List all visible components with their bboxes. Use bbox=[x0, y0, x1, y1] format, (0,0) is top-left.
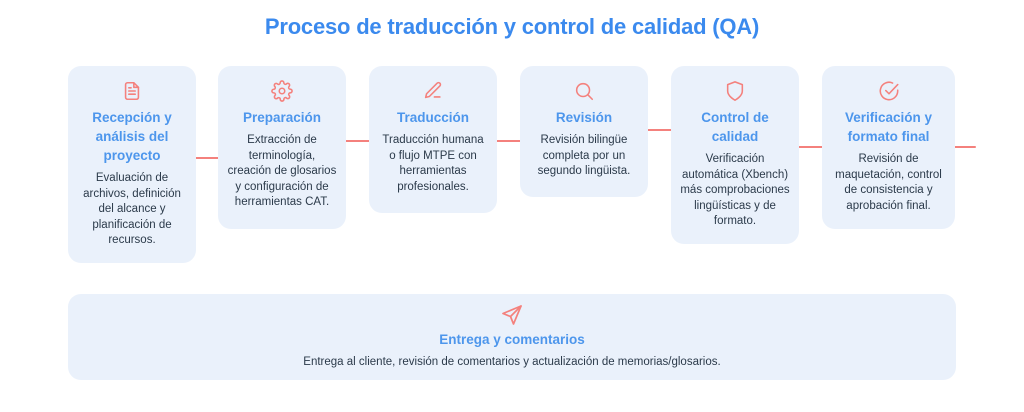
step-card-description: Revisión bilingüe completa por un segund… bbox=[529, 133, 639, 180]
document-icon bbox=[121, 80, 143, 102]
step-card-title: Traducción bbox=[378, 108, 488, 127]
send-icon bbox=[500, 303, 524, 327]
step-card-2[interactable]: Preparación Extracción de terminología, … bbox=[218, 66, 346, 229]
pencil-icon bbox=[422, 80, 444, 102]
step-card-6[interactable]: Verificación y formato final Revisión de… bbox=[822, 66, 955, 229]
process-diagram: Recepción y análisis del proyecto Evalua… bbox=[0, 0, 1024, 412]
step-card-description: Revisión de maquetación, control de cons… bbox=[831, 152, 946, 214]
step-card-3[interactable]: Traducción Traducción humana o flujo MTP… bbox=[369, 66, 497, 213]
final-step-description: Entrega al cliente, revisión de comentar… bbox=[68, 354, 956, 370]
gear-icon bbox=[271, 80, 293, 102]
step-card-title: Verificación y formato final bbox=[831, 108, 946, 146]
final-step-title: Entrega y comentarios bbox=[68, 330, 956, 350]
step-card-title: Recepción y análisis del proyecto bbox=[77, 108, 187, 165]
step-card-description: Verificación automática (Xbench) más com… bbox=[680, 152, 790, 230]
check-circle-icon bbox=[878, 80, 900, 102]
step-card-5[interactable]: Control de calidad Verificación automáti… bbox=[671, 66, 799, 244]
step-card-title: Revisión bbox=[529, 108, 639, 127]
step-card-description: Evaluación de archivos, definición del a… bbox=[77, 171, 187, 249]
step-card-1[interactable]: Recepción y análisis del proyecto Evalua… bbox=[68, 66, 196, 263]
step-card-description: Extracción de terminología, creación de … bbox=[227, 133, 337, 211]
step-card-title: Preparación bbox=[227, 108, 337, 127]
step-card-description: Traducción humana o flujo MTPE con herra… bbox=[378, 133, 488, 195]
final-step-panel[interactable]: Entrega y comentarios Entrega al cliente… bbox=[68, 294, 956, 380]
step-card-title: Control de calidad bbox=[680, 108, 790, 146]
step-card-4[interactable]: Revisión Revisión bilingüe completa por … bbox=[520, 66, 648, 197]
search-icon bbox=[573, 80, 595, 102]
shield-icon bbox=[724, 80, 746, 102]
